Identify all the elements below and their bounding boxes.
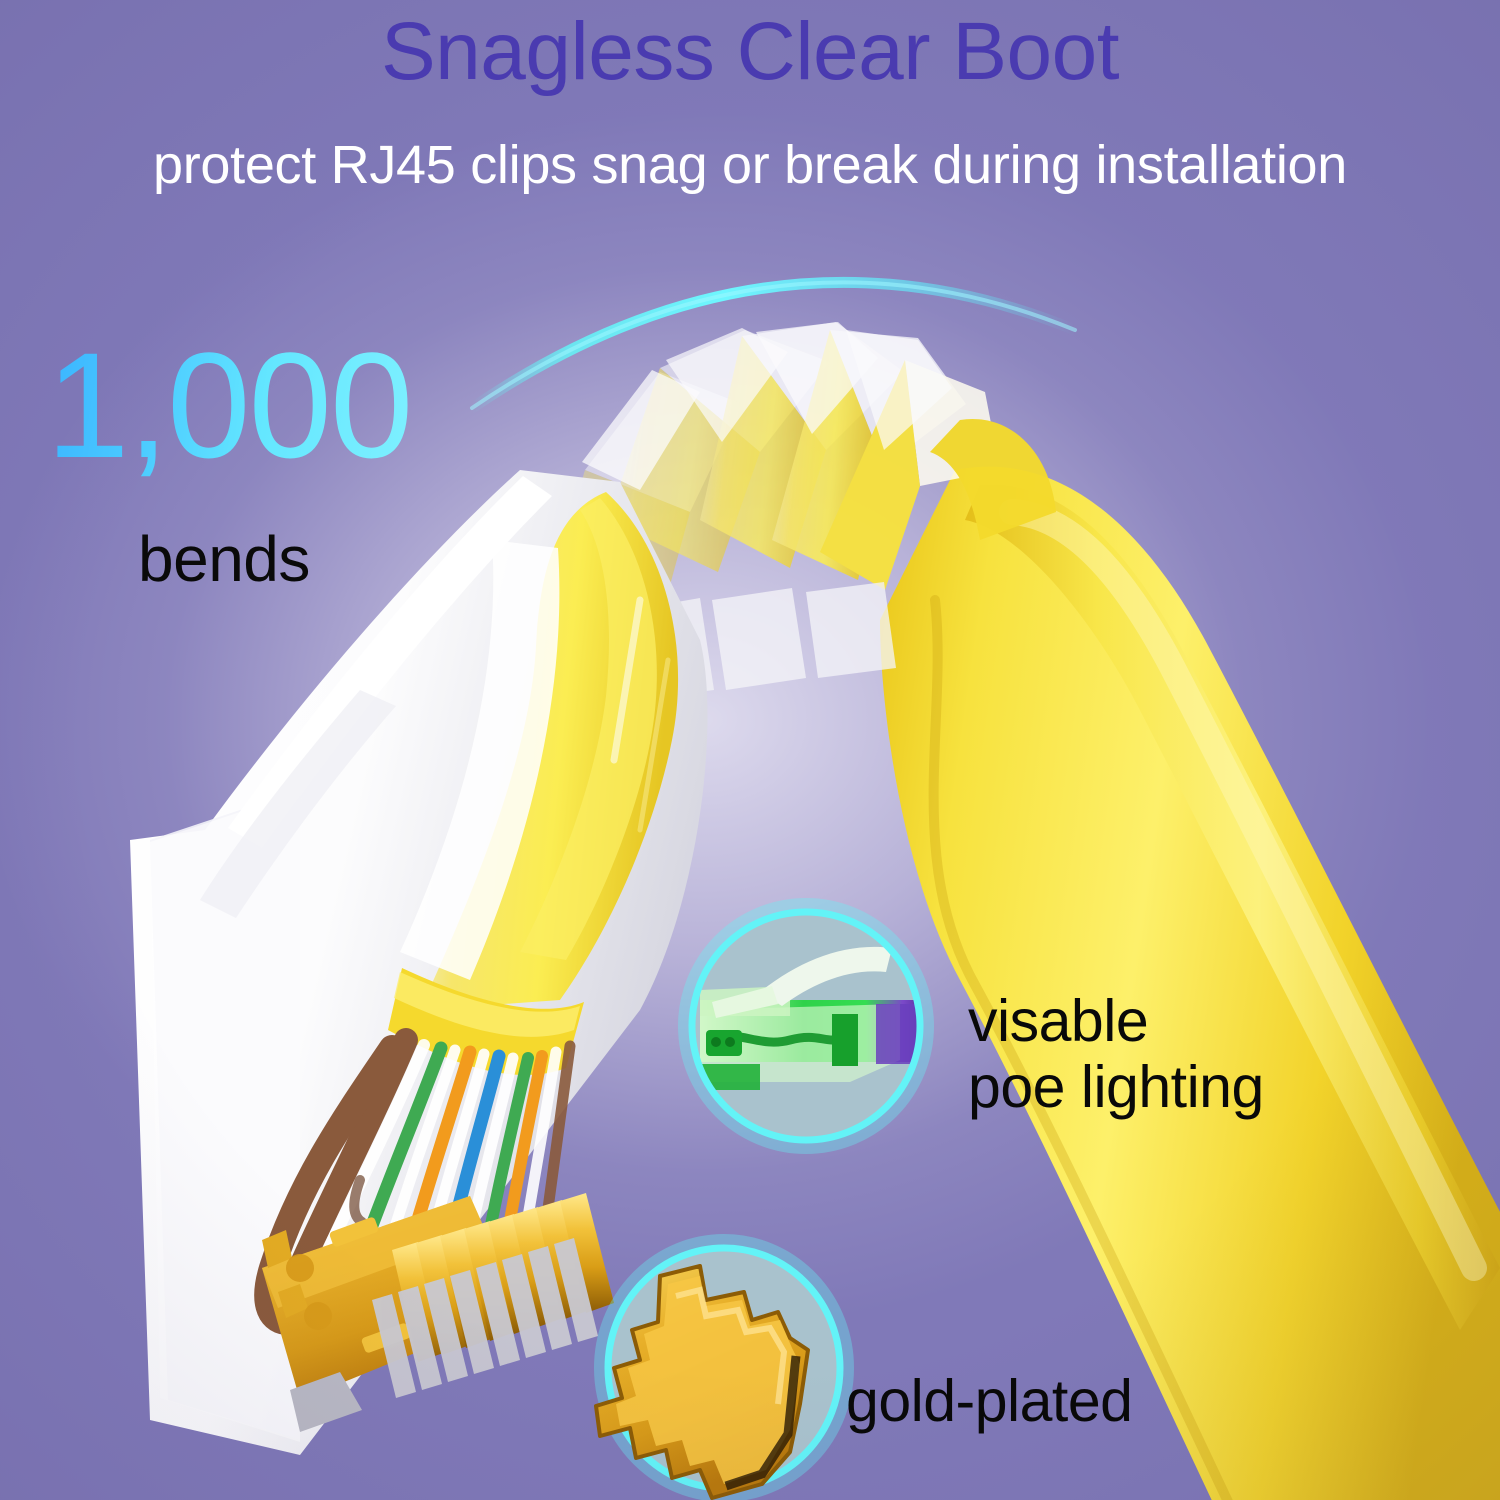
background-vignette <box>0 0 1500 1500</box>
callout-label-poe-lighting: visable poe lighting <box>968 988 1264 1120</box>
page-subtitle: protect RJ45 clips snag or break during … <box>0 134 1500 196</box>
product-infographic: Snagless Clear Boot protect RJ45 clips s… <box>0 0 1500 1500</box>
callout-label-gold-plated: gold-plated <box>846 1368 1132 1434</box>
page-title: Snagless Clear Boot <box>0 6 1500 98</box>
bend-count-value: 1,000 <box>46 330 411 480</box>
bend-count-unit: bends <box>138 527 310 591</box>
